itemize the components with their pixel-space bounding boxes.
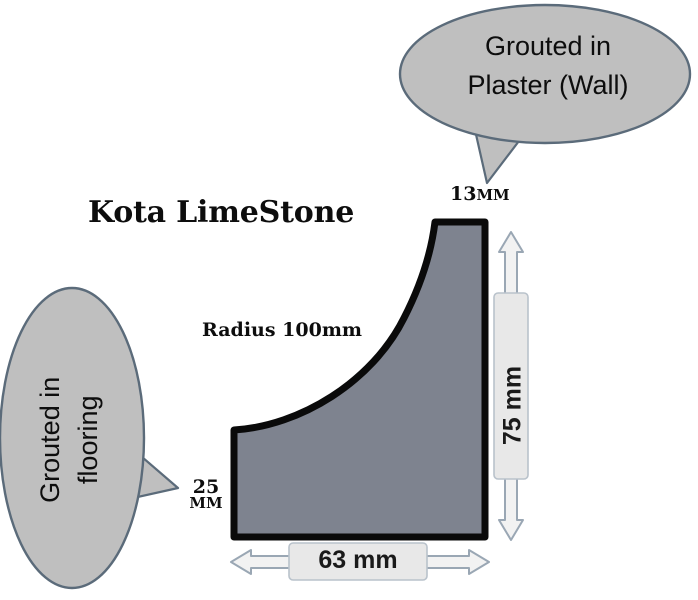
dimension-63-label: 63 mm: [298, 548, 418, 573]
page-title: Kota LimeStone: [88, 198, 354, 228]
dimension-label-25mm: 25MM: [180, 478, 232, 510]
dimension-13-value: 13: [450, 183, 476, 205]
dimension-25-unit: MM: [180, 496, 232, 510]
callout-top-line1: Grouted in: [485, 31, 611, 61]
diagram-canvas: Kota LimeStone Radius 100mm 13MM 25MM Gr…: [0, 0, 698, 600]
dimension-13-unit: MM: [476, 186, 509, 204]
radius-annotation: Radius 100mm: [202, 321, 362, 340]
callout-top-label: Grouted inPlaster (Wall): [443, 27, 653, 105]
callout-left-line2: flooring: [73, 396, 103, 485]
callout-top-line2: Plaster (Wall): [467, 70, 628, 100]
dimension-label-13mm: 13MM: [450, 185, 510, 204]
callout-left-line1: Grouted in: [35, 377, 65, 503]
callout-left-label: Grouted inflooring: [32, 340, 108, 540]
dimension-75-label: 75 mm: [501, 351, 526, 461]
kota-limestone-shape: [234, 222, 485, 537]
